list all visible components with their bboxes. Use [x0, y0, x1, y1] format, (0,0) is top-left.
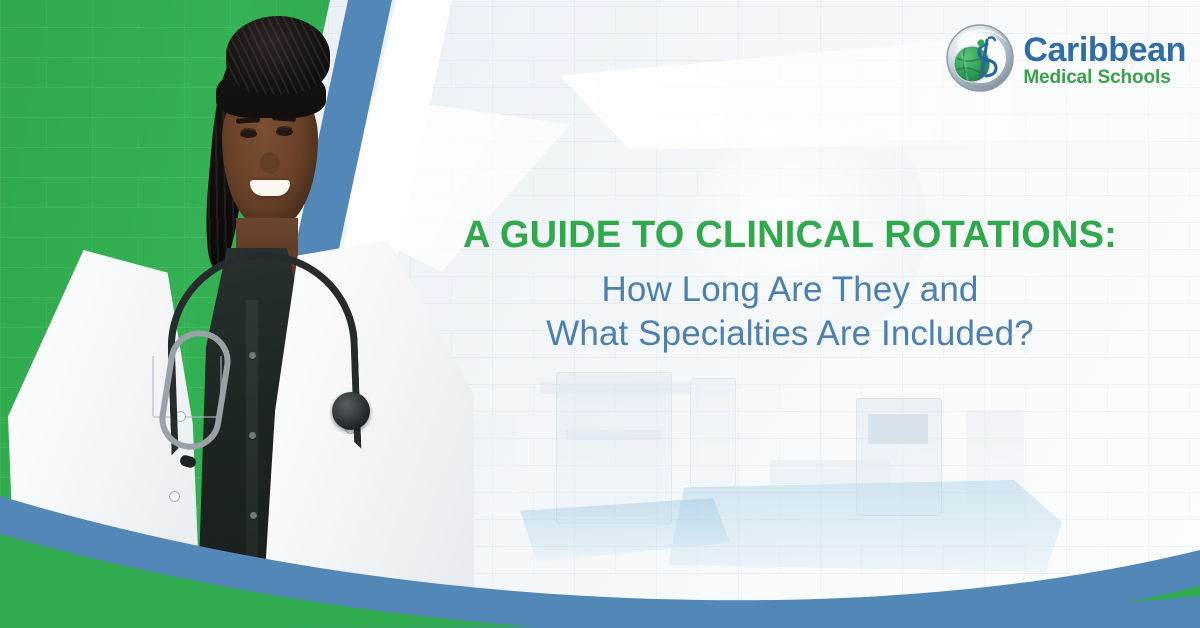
eye-left	[240, 130, 257, 138]
headline-block: A GUIDE TO CLINICAL ROTATIONS: How Long …	[420, 214, 1160, 356]
iv-pole-ghost	[690, 378, 736, 488]
shelf-ghost-top	[540, 382, 690, 394]
brand-name-primary: Caribbean	[1023, 33, 1186, 67]
monitor-screen-ghost	[868, 414, 928, 444]
brand-logo[interactable]: Caribbean Medical Schools	[943, 22, 1186, 96]
shelf-ghost-mid	[566, 430, 662, 440]
brand-wordmark: Caribbean Medical Schools	[1023, 31, 1186, 87]
eye-right	[276, 128, 293, 136]
stethoscope-bell	[332, 392, 370, 430]
promo-banner: A GUIDE TO CLINICAL ROTATIONS: How Long …	[0, 0, 1200, 628]
smile	[250, 180, 290, 196]
globe-caduceus-icon	[943, 22, 1017, 96]
bottom-wave-graphic	[0, 478, 1200, 628]
hair-bun	[226, 16, 330, 94]
headline-secondary-line-1: How Long Are They and	[420, 268, 1160, 312]
brand-name-secondary: Medical Schools	[1023, 68, 1186, 87]
headline-secondary: How Long Are They and What Specialties A…	[420, 268, 1160, 356]
headline-secondary-line-2: What Specialties Are Included?	[420, 312, 1160, 356]
headline-primary: A GUIDE TO CLINICAL ROTATIONS:	[420, 214, 1160, 257]
nose	[260, 152, 280, 174]
